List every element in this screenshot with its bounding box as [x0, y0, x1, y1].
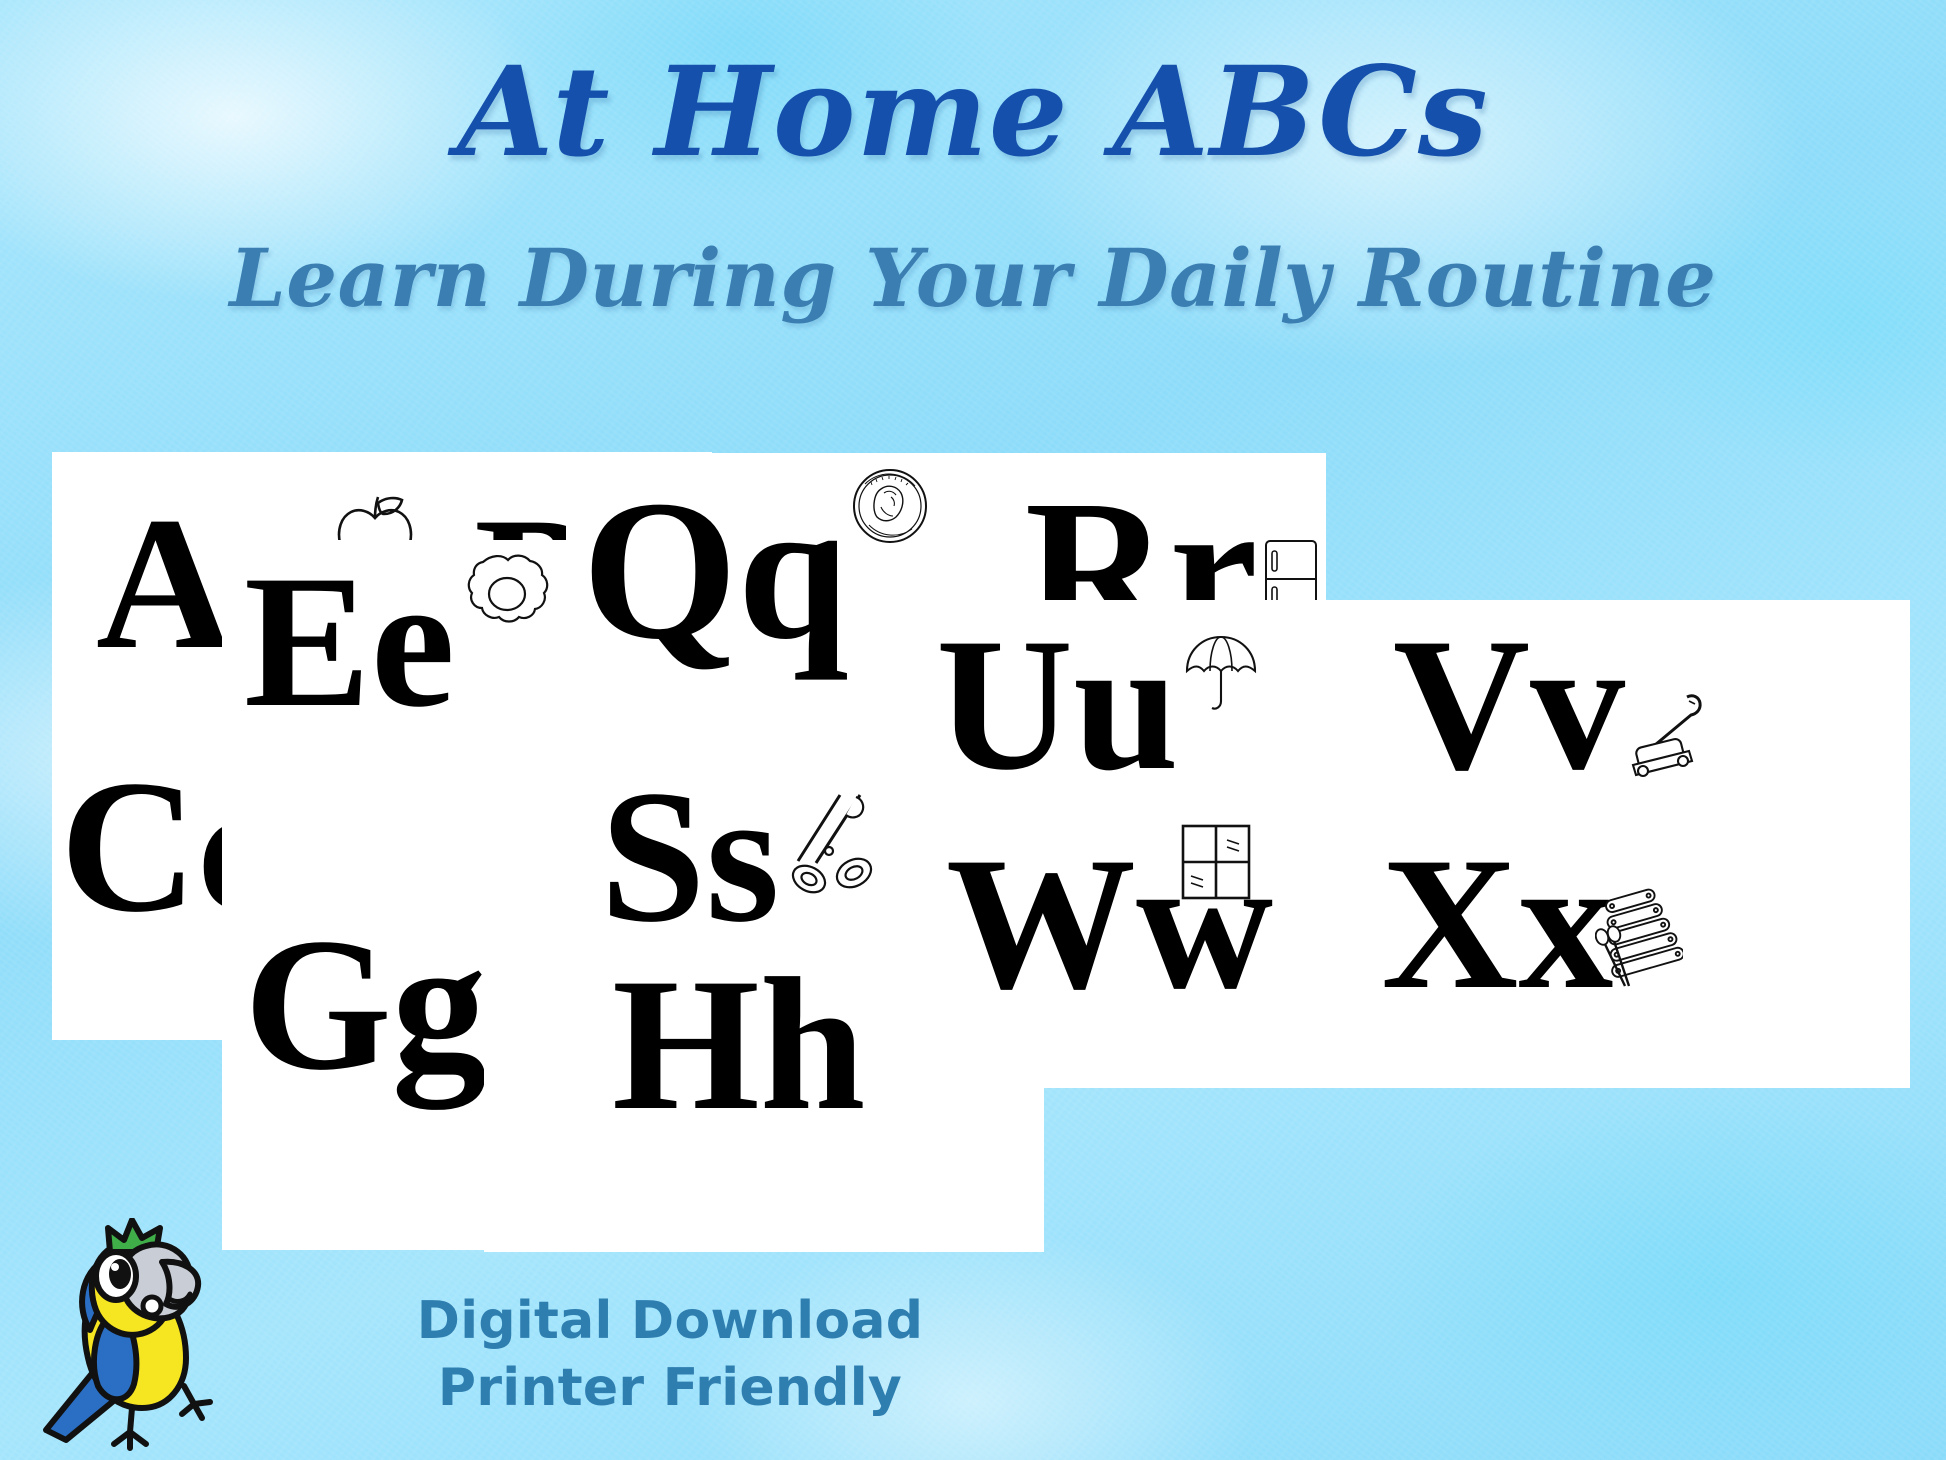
egg-icon [459, 552, 549, 634]
vacuum-icon [1625, 691, 1707, 787]
letter-row-e: Ee [244, 552, 549, 730]
letter-glyphs-Hh: Hh [612, 958, 865, 1133]
letter-pair-Ww: Ww [946, 822, 1255, 1012]
letter-glyphs-Uu: Uu [936, 618, 1179, 793]
page-subtitle: Learn During Your Daily Routine [0, 236, 1946, 320]
letter-pair-Ee: Ee [244, 552, 549, 730]
letter-row-wx: Ww Xx [946, 822, 1683, 1012]
letter-glyphs-Qq: Qq [582, 479, 849, 663]
parrot-logo [36, 1218, 226, 1453]
letter-glyphs-Gg: Gg [244, 918, 487, 1093]
quarter-coin-icon [851, 467, 929, 545]
letter-row-h: Hh [612, 958, 865, 1133]
letter-glyphs-Ee: Ee [244, 555, 455, 730]
poster-canvas: Aa Bb [0, 0, 1946, 1460]
letter-pair-Uu: Uu [936, 618, 1261, 793]
xylophone-icon [1595, 888, 1683, 996]
window-icon [1177, 822, 1255, 904]
umbrella-icon [1181, 629, 1261, 715]
letter-row-uv: Uu Vv [936, 618, 1707, 793]
letter-pair-Hh: Hh [612, 958, 865, 1133]
scissors-icon [782, 789, 878, 901]
letter-glyphs-Vv: Vv [1393, 618, 1625, 793]
letter-glyphs-Xx: Xx [1381, 837, 1613, 1012]
letter-card-uvwx: Uu Vv [910, 600, 1910, 1088]
letter-pair-Qq: Qq [582, 467, 929, 663]
letter-pair-Xx: Xx [1381, 837, 1683, 1012]
page-title: At Home ABCs [0, 48, 1946, 178]
letter-pair-Ss: Ss [600, 770, 878, 945]
letter-glyphs-Ss: Ss [600, 770, 780, 945]
letter-pair-Vv: Vv [1393, 618, 1707, 793]
letter-row-s: Ss [600, 770, 878, 945]
